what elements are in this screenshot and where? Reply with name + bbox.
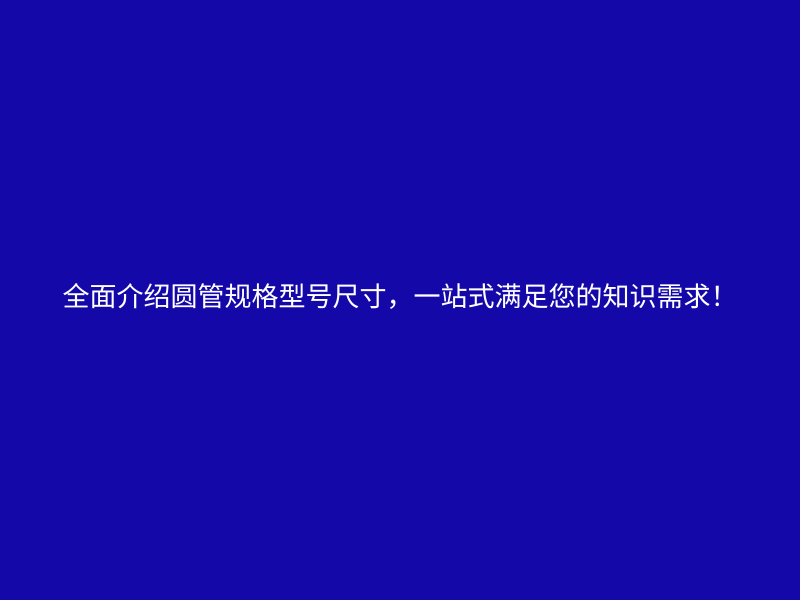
headline-block: 全面介绍圆管规格型号尺寸，一站式满足您的知识需求！ <box>55 274 745 322</box>
page-title: 全面介绍圆管规格型号尺寸，一站式满足您的知识需求！ <box>55 274 745 322</box>
title-slide: 全面介绍圆管规格型号尺寸，一站式满足您的知识需求！ <box>0 0 800 600</box>
